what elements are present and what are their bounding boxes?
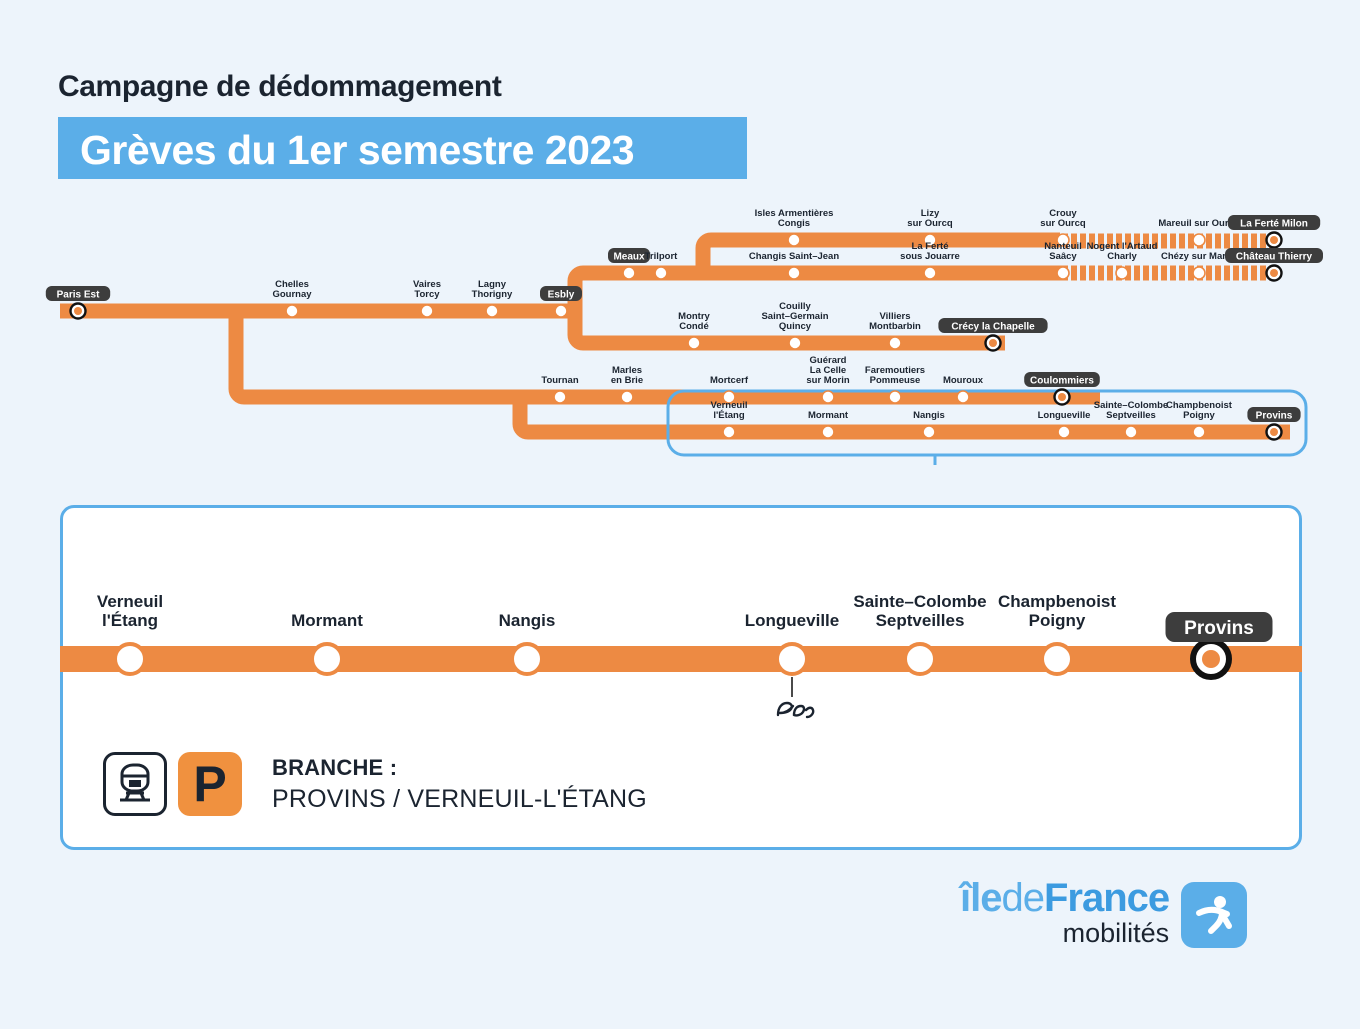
station-label: Longueville (1038, 410, 1091, 421)
map-station[interactable] (788, 267, 800, 279)
detail-station[interactable] (1042, 644, 1072, 674)
map-station[interactable] (554, 391, 566, 403)
svg-text:Paris Est: Paris Est (57, 290, 100, 301)
detail-station[interactable] (905, 644, 935, 674)
map-station[interactable] (623, 267, 635, 279)
svg-text:Crécy la Chapelle: Crécy la Chapelle (951, 322, 1035, 333)
map-station[interactable] (421, 305, 433, 317)
terminus-badge: Paris Est (46, 286, 110, 301)
station-label: Mareuil sur Ourcq (1158, 218, 1239, 229)
line-p-badge: P (178, 752, 242, 816)
page-kicker: Campagne de dédommagement (58, 70, 501, 104)
station-label: Poigny (1183, 410, 1215, 421)
station-label: Changis Saint–Jean (749, 251, 839, 262)
detail-terminus-badge: Provins (1166, 612, 1273, 642)
terminus-badge: Château Thierry (1225, 248, 1323, 263)
detail-station-label: Nangis (499, 611, 556, 630)
logo-de: de (1001, 876, 1044, 920)
svg-text:Esbly: Esbly (548, 290, 575, 301)
map-station[interactable] (71, 304, 86, 319)
station-label: Septveilles (1106, 410, 1156, 421)
map-station[interactable] (1055, 390, 1070, 405)
map-station[interactable] (1267, 233, 1282, 248)
map-station[interactable] (822, 391, 834, 403)
svg-text:Château Thierry: Château Thierry (1236, 252, 1313, 263)
map-station[interactable] (1193, 426, 1205, 438)
map-station[interactable] (1193, 234, 1205, 246)
station-label: Torcy (414, 289, 440, 300)
svg-text:Provins: Provins (1184, 618, 1254, 639)
terminus-badge: Esbly (540, 286, 582, 301)
map-station[interactable] (486, 305, 498, 317)
logo-mobilites: mobilités (1063, 920, 1170, 947)
map-station[interactable] (1267, 425, 1282, 440)
map-station[interactable] (621, 391, 633, 403)
page-title: Grèves du 1er semestre 2023 (80, 127, 634, 174)
map-station[interactable] (923, 426, 935, 438)
station-label: en Brie (611, 375, 643, 386)
detail-station-label: Longueville (745, 611, 839, 630)
network-map: Paris EstChellesGournayVairesTorcyLagnyT… (0, 195, 1360, 465)
train-icon (103, 752, 167, 816)
detail-station-label: Poigny (1029, 611, 1086, 630)
detail-station[interactable] (1193, 641, 1229, 677)
map-station[interactable] (555, 305, 567, 317)
line-letter: P (193, 759, 226, 809)
station-label: Mormant (808, 410, 849, 421)
station-label: Quincy (779, 321, 812, 332)
detail-station[interactable] (777, 644, 807, 674)
svg-text:La Ferté Milon: La Ferté Milon (1240, 219, 1308, 230)
map-station[interactable] (957, 391, 969, 403)
detail-station-label: Verneuil (97, 592, 163, 611)
station-label: sous Jouarre (900, 251, 960, 262)
map-station[interactable] (1125, 426, 1137, 438)
station-label: Mouroux (943, 375, 984, 386)
map-station[interactable] (822, 426, 834, 438)
station-label: Charly (1107, 251, 1137, 262)
detail-station-label: Mormant (291, 611, 363, 630)
svg-text:Meaux: Meaux (613, 252, 645, 263)
map-station[interactable] (1057, 267, 1069, 279)
terminus-badge: Crécy la Chapelle (938, 318, 1047, 333)
station-label: Thorigny (472, 289, 513, 300)
detail-station[interactable] (115, 644, 145, 674)
detail-station[interactable] (512, 644, 542, 674)
map-station[interactable] (1267, 266, 1282, 281)
station-label: Pommeuse (870, 375, 921, 386)
svg-text:Provins: Provins (1256, 411, 1293, 422)
map-station[interactable] (688, 337, 700, 349)
map-station[interactable] (1058, 426, 1070, 438)
station-label: sur Ourcq (1040, 218, 1086, 229)
station-label: l'Étang (713, 410, 744, 421)
detail-station-label: Septveilles (876, 611, 965, 630)
map-station[interactable] (1193, 267, 1205, 279)
map-station[interactable] (924, 267, 936, 279)
map-station[interactable] (889, 337, 901, 349)
legend-subtitle: PROVINS / VERNEUIL-L'ÉTANG (272, 785, 647, 814)
map-station[interactable] (788, 234, 800, 246)
detail-station-label: l'Étang (102, 611, 158, 630)
map-station[interactable] (889, 391, 901, 403)
logo-ile: île (960, 876, 1001, 920)
branch-legend: P BRANCHE : PROVINS / VERNEUIL-L'ÉTANG (103, 752, 647, 816)
svg-text:Coulommiers: Coulommiers (1030, 376, 1094, 387)
legend-title: BRANCHE : (272, 755, 647, 781)
detail-station[interactable] (312, 644, 342, 674)
map-station[interactable] (789, 337, 801, 349)
map-station[interactable] (655, 267, 667, 279)
station-label: Gournay (272, 289, 312, 300)
detail-station-label: Champbenoist (998, 592, 1116, 611)
station-label: Trilport (645, 251, 679, 262)
logo-france: France (1044, 876, 1169, 920)
terminus-badge: Provins (1247, 407, 1300, 422)
station-label: sur Ourcq (907, 218, 953, 229)
terminus-badge: Coulommiers (1024, 372, 1100, 387)
station-label: Congis (778, 218, 810, 229)
station-label: Montbarbin (869, 321, 921, 332)
map-station[interactable] (723, 426, 735, 438)
detail-line (60, 646, 1302, 672)
detail-station-label: Sainte–Colombe (853, 592, 986, 611)
station-label: Nangis (913, 410, 945, 421)
idfm-logo: îledeFrance mobilités (960, 878, 1247, 948)
runner-icon (1181, 882, 1247, 948)
map-station[interactable] (1116, 267, 1128, 279)
station-label: sur Morin (806, 375, 849, 386)
hatched-segment-chateau-thierry (1062, 266, 1270, 281)
station-label: Tournan (541, 375, 578, 386)
map-station[interactable] (986, 336, 1001, 351)
terminus-badge: La Ferté Milon (1228, 215, 1320, 230)
ter-connection (778, 677, 813, 717)
station-label: Saâcy (1049, 251, 1077, 262)
station-label: Condé (679, 321, 709, 332)
map-station[interactable] (286, 305, 298, 317)
station-label: Mortcerf (710, 375, 749, 386)
